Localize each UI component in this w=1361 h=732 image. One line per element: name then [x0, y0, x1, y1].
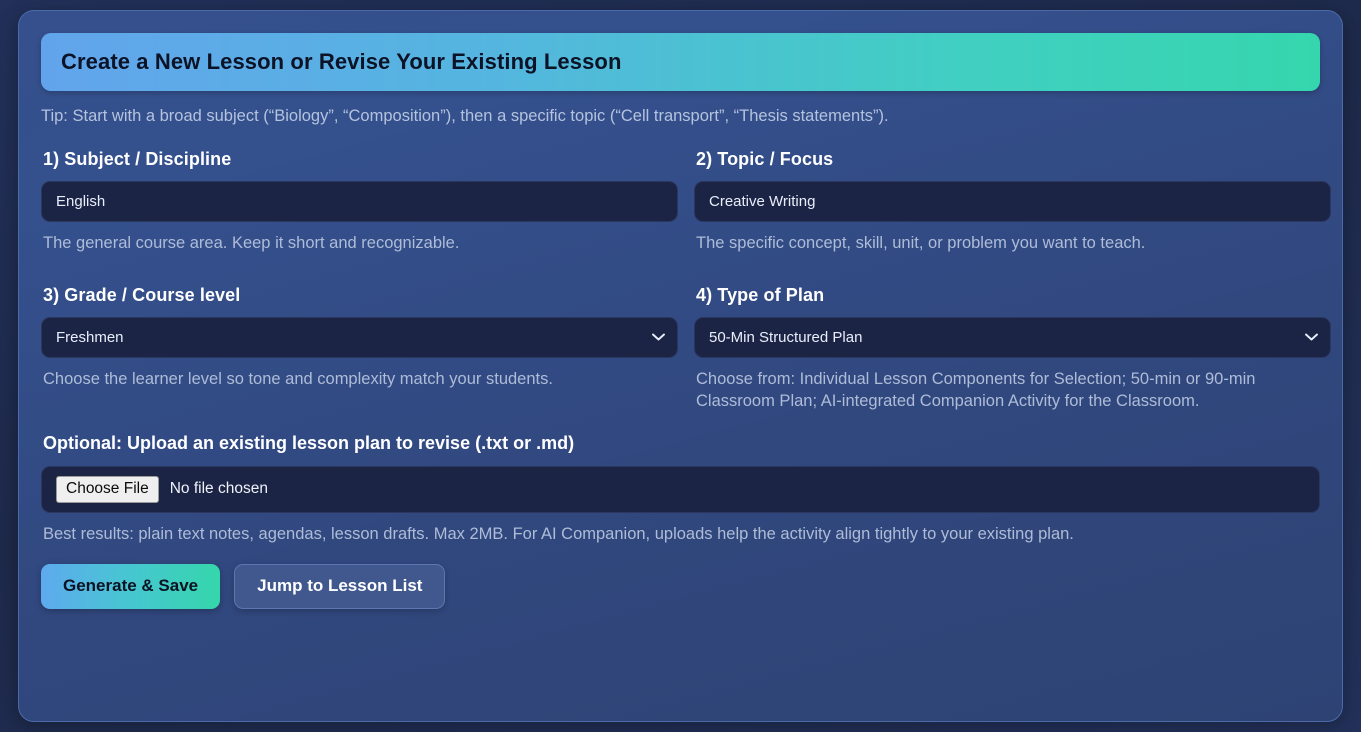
file-status-text: No file chosen — [170, 480, 268, 498]
upload-help: Best results: plain text notes, agendas,… — [43, 525, 1320, 544]
field-plan-type: 4) Type of Plan 50-Min Structured Plan C… — [694, 285, 1331, 413]
field-grade: 3) Grade / Course level Freshmen Choose … — [41, 285, 678, 413]
fields-grid: 1) Subject / Discipline The general cour… — [41, 149, 1320, 413]
upload-section: Optional: Upload an existing lesson plan… — [41, 433, 1320, 544]
choose-file-button[interactable]: Choose File — [56, 476, 159, 503]
field-subject-help: The general course area. Keep it short a… — [43, 233, 678, 255]
plan-type-select[interactable]: 50-Min Structured Plan — [694, 317, 1331, 358]
upload-label: Optional: Upload an existing lesson plan… — [43, 433, 1320, 454]
section-spacer — [41, 413, 1320, 433]
field-plan-type-help: Choose from: Individual Lesson Component… — [696, 369, 1331, 413]
field-topic-label: 2) Topic / Focus — [696, 149, 1331, 170]
field-grade-label: 3) Grade / Course level — [43, 285, 678, 306]
lesson-form-card: Create a New Lesson or Revise Your Exist… — [18, 10, 1343, 722]
form-banner: Create a New Lesson or Revise Your Exist… — [41, 33, 1320, 91]
field-plan-type-label: 4) Type of Plan — [696, 285, 1331, 306]
tip-text: Tip: Start with a broad subject (“Biolog… — [41, 107, 1320, 127]
grid-spacer-right — [694, 255, 1331, 285]
jump-to-lesson-list-button[interactable]: Jump to Lesson List — [234, 564, 445, 609]
topic-input[interactable] — [694, 181, 1331, 222]
field-topic: 2) Topic / Focus The specific concept, s… — [694, 149, 1331, 255]
plan-type-select-wrap: 50-Min Structured Plan — [694, 317, 1331, 358]
file-input[interactable]: Choose File No file chosen — [41, 466, 1320, 513]
field-topic-help: The specific concept, skill, unit, or pr… — [696, 233, 1331, 255]
subject-input[interactable] — [41, 181, 678, 222]
grid-spacer-left — [41, 255, 678, 285]
grade-select[interactable]: Freshmen — [41, 317, 678, 358]
field-grade-help: Choose the learner level so tone and com… — [43, 369, 678, 391]
field-subject-label: 1) Subject / Discipline — [43, 149, 678, 170]
generate-and-save-button[interactable]: Generate & Save — [41, 564, 220, 609]
grade-select-wrap: Freshmen — [41, 317, 678, 358]
page-title: Create a New Lesson or Revise Your Exist… — [61, 49, 622, 75]
form-actions: Generate & Save Jump to Lesson List — [41, 564, 1320, 609]
field-subject: 1) Subject / Discipline The general cour… — [41, 149, 678, 255]
